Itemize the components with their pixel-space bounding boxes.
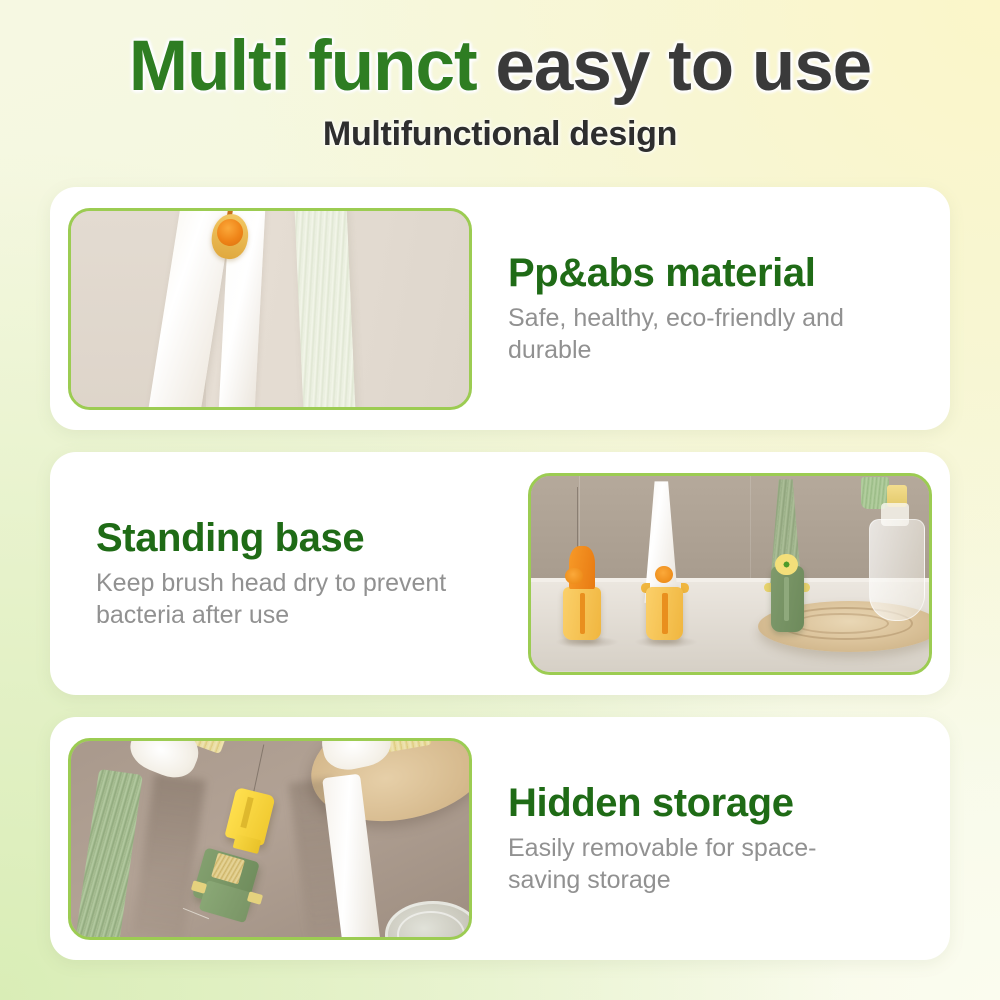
feature-description: Keep brush head dry to prevent bacteria … xyxy=(96,567,466,631)
photo-standing-bases xyxy=(531,476,929,672)
feature-image-pp-abs-material xyxy=(68,208,472,410)
feature-card-standing-base: Standing base Keep brush head dry to pre… xyxy=(50,452,950,695)
page-title: Multi funct easy to use xyxy=(0,30,1000,105)
wall-seam-line xyxy=(750,476,751,580)
page-title-dark-part: easy to use xyxy=(495,27,871,106)
feature-title: Pp&abs material xyxy=(508,251,926,296)
feature-card-hidden-storage: Hidden storage Easily removable for spac… xyxy=(50,717,950,960)
base-slot-icon xyxy=(784,577,789,620)
green-ribbed-handle-icon xyxy=(294,208,356,410)
page-header: Multi funct easy to use Multifunctional … xyxy=(0,0,1000,154)
page-subtitle: Multifunctional design xyxy=(0,115,1000,154)
feature-card-list: Pp&abs material Safe, healthy, eco-frien… xyxy=(0,187,1000,982)
photo-brush-handles-closeup xyxy=(71,211,469,407)
feature-title: Hidden storage xyxy=(508,781,926,826)
feature-image-standing-base xyxy=(528,473,932,675)
base-slot-icon xyxy=(580,593,585,634)
feature-copy-pp-abs-material: Pp&abs material Safe, healthy, eco-frien… xyxy=(490,251,950,366)
feature-image-hidden-storage xyxy=(68,738,472,940)
feature-copy-standing-base: Standing base Keep brush head dry to pre… xyxy=(50,516,510,631)
feature-description: Easily removable for space-saving storag… xyxy=(508,832,868,896)
hanging-wire-icon xyxy=(253,745,265,795)
base-slot-icon xyxy=(662,593,667,634)
yellow-flower-icon xyxy=(775,554,797,576)
feature-copy-hidden-storage: Hidden storage Easily removable for spac… xyxy=(490,781,950,896)
feature-card-pp-abs-material: Pp&abs material Safe, healthy, eco-frien… xyxy=(50,187,950,430)
orange-flower-icon xyxy=(565,568,583,585)
green-brush-handle-icon xyxy=(73,769,143,940)
tray-ring-icon xyxy=(794,613,890,635)
brush-shadow xyxy=(132,773,206,939)
hanging-wire-icon xyxy=(577,487,578,548)
photo-hidden-storage-parts xyxy=(71,741,469,937)
feature-description: Safe, healthy, eco-friendly and durable xyxy=(508,302,868,366)
glass-bottle-icon xyxy=(869,519,925,621)
feature-title: Standing base xyxy=(96,516,486,561)
page-title-green-part: Multi funct xyxy=(129,27,477,106)
